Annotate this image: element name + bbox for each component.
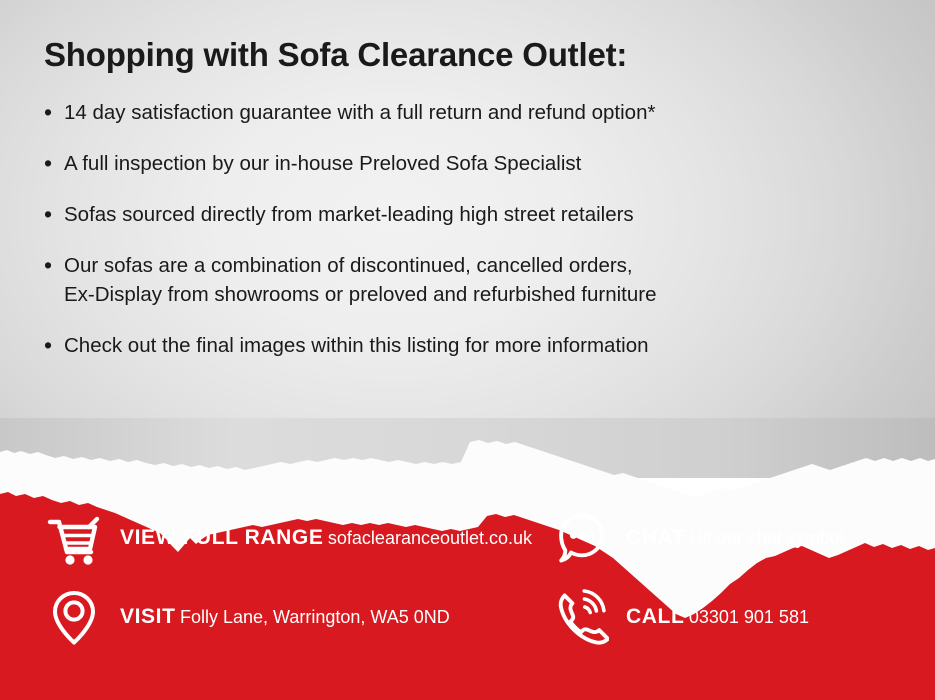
promo-banner: Shopping with Sofa Clearance Outlet: • 1… (0, 0, 935, 700)
contact-title: VISIT (120, 605, 176, 628)
list-item: • A full inspection by our in-house Prel… (44, 149, 904, 178)
contact-text-block: CALL 03301 901 581 (626, 604, 809, 630)
contact-chat[interactable]: CHAT Hit our chat symbol (548, 506, 844, 570)
list-item: • Check out the final images within this… (44, 331, 904, 360)
contact-text-block: VIEW FULL RANGE sofaclearanceoutlet.co.u… (120, 525, 532, 551)
contact-title: VIEW FULL RANGE (120, 526, 323, 549)
shopping-cart-icon (42, 506, 106, 570)
contact-text-block: VISIT Folly Lane, Warrington, WA5 0ND (120, 604, 450, 630)
bullet-point-icon: • (44, 149, 64, 178)
contact-subtitle: sofaclearanceoutlet.co.uk (328, 528, 532, 548)
benefits-list: • 14 day satisfaction guarantee with a f… (44, 98, 904, 382)
list-item-line: Sofas sourced directly from market-leadi… (64, 203, 634, 226)
contact-text-block: CHAT Hit our chat symbol (626, 525, 844, 551)
list-item-line: Ex-Display from showrooms or preloved an… (64, 280, 904, 309)
list-item-line: Check out the final images within this l… (64, 334, 649, 357)
phone-icon (548, 585, 612, 649)
bullet-point-icon: • (44, 331, 64, 360)
list-item-text: 14 day satisfaction guarantee with a ful… (64, 98, 904, 127)
list-item-line: Our sofas are a combination of discontin… (64, 251, 904, 280)
page-title: Shopping with Sofa Clearance Outlet: (44, 36, 627, 74)
contact-title: CALL (626, 605, 684, 628)
bullet-point-icon: • (44, 251, 64, 280)
contact-subtitle: 03301 901 581 (689, 607, 809, 627)
list-item-line: A full inspection by our in-house Prelov… (64, 152, 581, 175)
list-item-text: Check out the final images within this l… (64, 331, 904, 360)
list-item-text: A full inspection by our in-house Prelov… (64, 149, 904, 178)
list-item: • 14 day satisfaction guarantee with a f… (44, 98, 904, 127)
list-item: • Sofas sourced directly from market-lea… (44, 200, 904, 229)
map-pin-icon (42, 585, 106, 649)
contact-view-full-range[interactable]: VIEW FULL RANGE sofaclearanceoutlet.co.u… (42, 506, 532, 570)
list-item: • Our sofas are a combination of discont… (44, 251, 904, 309)
contact-details: VIEW FULL RANGE sofaclearanceoutlet.co.u… (0, 496, 935, 700)
list-item-text: Sofas sourced directly from market-leadi… (64, 200, 904, 229)
contact-title: CHAT (626, 526, 685, 549)
contact-call[interactable]: CALL 03301 901 581 (548, 585, 809, 649)
bullet-point-icon: • (44, 98, 64, 127)
contact-subtitle: Hit our chat symbol (690, 528, 844, 548)
contact-visit[interactable]: VISIT Folly Lane, Warrington, WA5 0ND (42, 585, 450, 649)
bullet-point-icon: • (44, 200, 64, 229)
list-item-text: Our sofas are a combination of discontin… (64, 251, 904, 309)
list-item-line: 14 day satisfaction guarantee with a ful… (64, 101, 655, 124)
contact-subtitle: Folly Lane, Warrington, WA5 0ND (180, 607, 450, 627)
chat-bubble-icon (548, 506, 612, 570)
